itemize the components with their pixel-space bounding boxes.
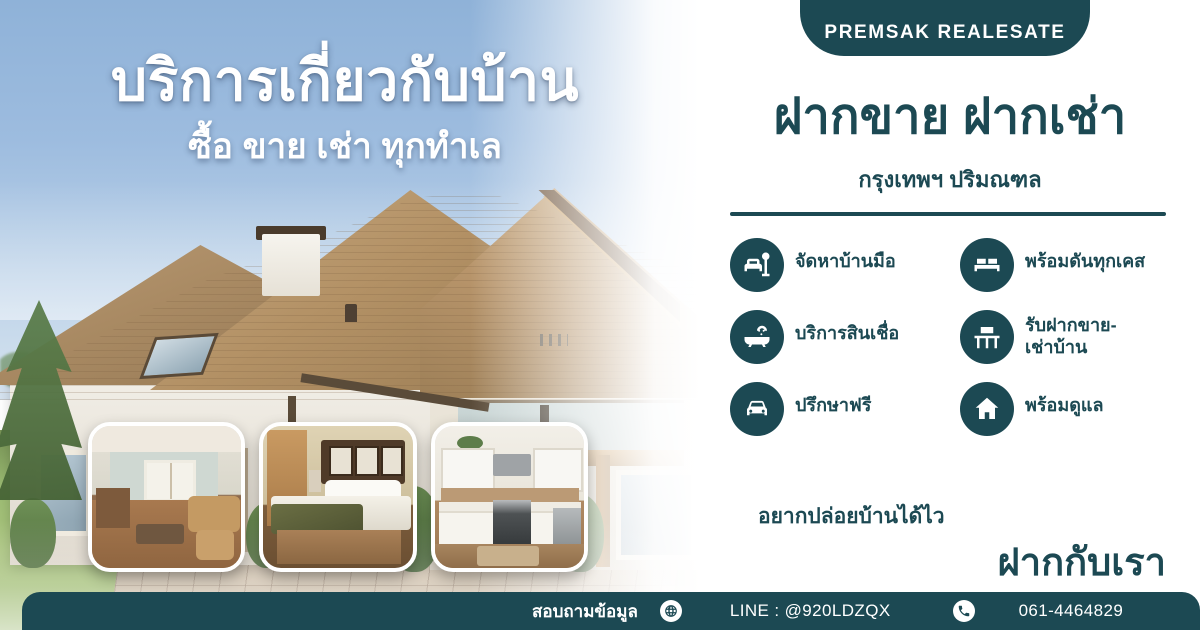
service-item-1[interactable]: จัดหาบ้านมือ bbox=[730, 238, 960, 292]
cta-big-text: ฝากกับเรา bbox=[730, 531, 1166, 592]
car-icon bbox=[730, 382, 784, 436]
contact-footer-bar: สอบถามข้อมูล LINE : @920LDZQX 061-446482… bbox=[22, 592, 1200, 630]
service-label-3: ปรึกษาฟรี bbox=[795, 382, 871, 417]
service-label-4: พร้อมดันทุกเคส bbox=[1025, 238, 1145, 273]
globe-icon[interactable] bbox=[660, 600, 682, 622]
house-icon bbox=[960, 382, 1014, 436]
service-label-2: บริการสินเชื่อ bbox=[795, 310, 899, 345]
service-label-5: รับฝากขาย- เช่าบ้าน bbox=[1025, 310, 1117, 359]
roof-vent-pipe bbox=[345, 304, 357, 322]
cta-small-text: อยากปล่อยบ้านได้ไว bbox=[758, 500, 1190, 533]
panel-subtitle: กรุงเทพฯ ปริมณฑล bbox=[700, 162, 1200, 197]
real-estate-banner: บริการเกี่ยวกับบ้าน ซื้อ ขาย เช่า ทุกทำเ… bbox=[0, 0, 1200, 630]
services-row: บริการสินเชื่อ รับฝากขาย- เช่าบ้าน bbox=[730, 310, 1190, 364]
service-item-2[interactable]: บริการสินเชื่อ bbox=[730, 310, 960, 364]
info-panel: PREMSAK REALESATE ฝากขาย ฝากเช่า กรุงเทพ… bbox=[700, 0, 1200, 630]
brand-name: PREMSAK REALESATE bbox=[824, 22, 1065, 44]
services-row: จัดหาบ้านมือ พร้อมดันทุกเคส bbox=[730, 238, 1190, 292]
panel-title: ฝากขาย ฝากเช่า bbox=[700, 92, 1200, 143]
service-item-4[interactable]: พร้อมดันทุกเคส bbox=[960, 238, 1190, 292]
bedroom-thumbnail[interactable] bbox=[259, 422, 416, 572]
service-label-6: พร้อมดูแล bbox=[1025, 382, 1104, 417]
living-room-thumbnail[interactable] bbox=[88, 422, 245, 572]
brand-badge: PREMSAK REALESATE bbox=[800, 0, 1090, 56]
sofa-lamp-icon bbox=[730, 238, 784, 292]
service-item-5[interactable]: รับฝากขาย- เช่าบ้าน bbox=[960, 310, 1190, 364]
dining-table-icon bbox=[960, 310, 1014, 364]
bathtub-shower-icon bbox=[730, 310, 784, 364]
service-label-1: จัดหาบ้านมือ bbox=[795, 238, 896, 273]
ask-info-label: สอบถามข้อมูล bbox=[532, 598, 638, 625]
headline-block: บริการเกี่ยวกับบ้าน ซื้อ ขาย เช่า ทุกทำเ… bbox=[0, 48, 690, 174]
cta-block: อยากปล่อยบ้านได้ไว ฝากกับเรา bbox=[730, 500, 1190, 592]
service-item-6[interactable]: พร้อมดูแล bbox=[960, 382, 1190, 436]
bed-icon bbox=[960, 238, 1014, 292]
cupola bbox=[262, 234, 320, 296]
interior-thumbnail-row bbox=[88, 422, 588, 572]
services-grid: จัดหาบ้านมือ พร้อมดันทุกเคส บริการสินเชื… bbox=[730, 238, 1190, 454]
line-id-label[interactable]: LINE : @920LDZQX bbox=[730, 601, 891, 621]
phone-icon[interactable] bbox=[953, 600, 975, 622]
phone-number-label[interactable]: 061-4464829 bbox=[1019, 601, 1124, 621]
divider bbox=[730, 212, 1166, 216]
kitchen-thumbnail[interactable] bbox=[431, 422, 588, 572]
service-item-3[interactable]: ปรึกษาฟรี bbox=[730, 382, 960, 436]
main-headline: บริการเกี่ยวกับบ้าน bbox=[0, 48, 690, 115]
services-row: ปรึกษาฟรี พร้อมดูแล bbox=[730, 382, 1190, 436]
sub-headline: ซื้อ ขาย เช่า ทุกทำเล bbox=[0, 119, 690, 174]
